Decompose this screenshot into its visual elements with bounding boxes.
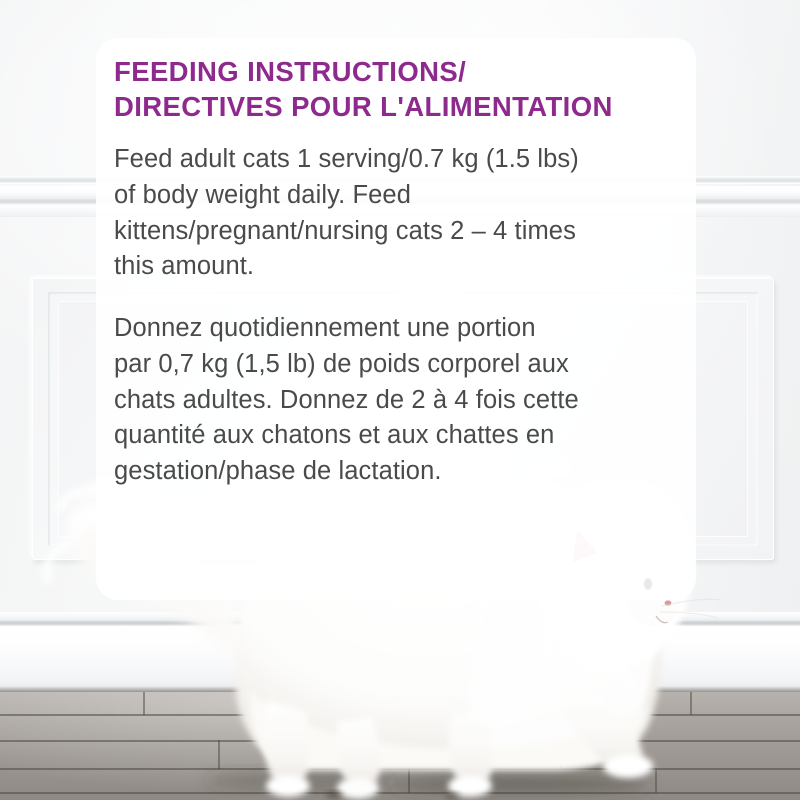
floor-board-end-seam: [218, 740, 220, 769]
floor-plank-seam: [0, 714, 800, 716]
product-detail-image: FEEDING INSTRUCTIONS/ DIRECTIVES POUR L'…: [0, 0, 800, 800]
floor-board-end-seam: [415, 692, 417, 715]
floor-plank-seam: [0, 740, 800, 742]
page-title: FEEDING INSTRUCTIONS/ DIRECTIVES POUR L'…: [114, 54, 678, 124]
floor-board-end-seam: [143, 692, 145, 715]
floor-board-end-seam: [277, 714, 279, 741]
floor-board-end-seam: [560, 740, 562, 769]
feeding-instructions-english: Feed adult cats 1 serving/0.7 kg (1.5 lb…: [114, 142, 678, 285]
floor-light-sheen: [0, 692, 800, 800]
floor-board-end-seam: [690, 692, 692, 715]
feeding-instructions-card: FEEDING INSTRUCTIONS/ DIRECTIVES POUR L'…: [96, 38, 696, 600]
wood-plank-floor: [0, 692, 800, 800]
floor-plank-seam: [0, 792, 800, 794]
floor-board-end-seam: [655, 768, 657, 793]
floor-plank-seam: [0, 768, 800, 770]
baseboard-body: [0, 626, 800, 692]
feeding-instructions-french: Donnez quotidiennement une portion par 0…: [114, 311, 678, 489]
baseboard-cap: [0, 612, 800, 621]
floor-board-end-seam: [408, 768, 410, 793]
